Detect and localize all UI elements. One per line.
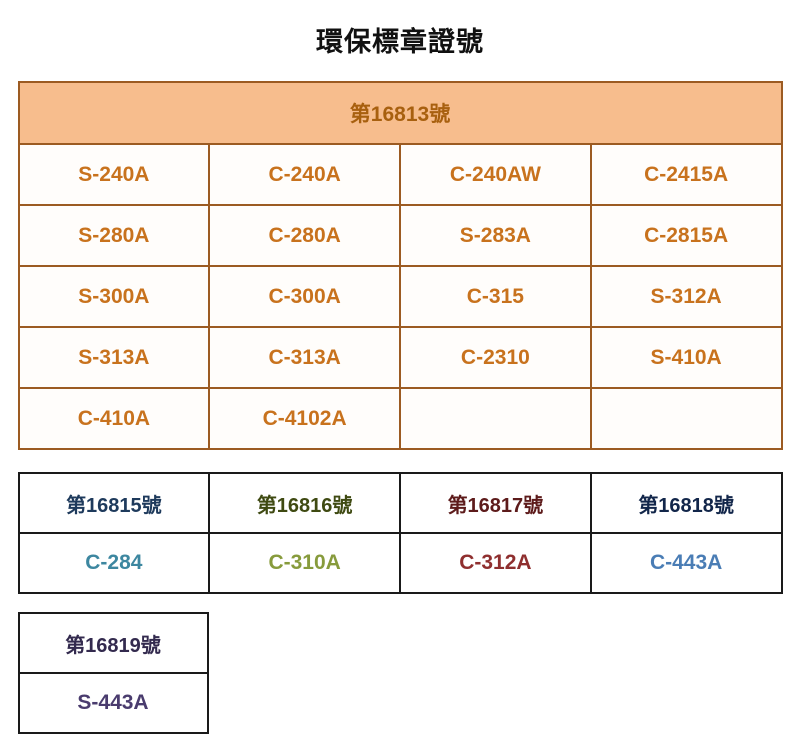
product-code-cell: S-443A: [19, 673, 208, 733]
certificate-table-16819: 第16819號 S-443A: [18, 612, 209, 734]
table-header-row: 第16819號: [19, 613, 208, 673]
certificate-number-header-16819: 第16819號: [19, 613, 208, 673]
table-header-row: 第16813號: [19, 82, 782, 144]
certificate-number-header-16815: 第16815號: [19, 473, 210, 533]
tables-container: 第16813號 S-240A C-240A C-240AW C-2415A S-…: [18, 81, 783, 734]
product-code-cell: C-443A: [591, 533, 782, 593]
table-row: S-443A: [19, 673, 208, 733]
product-code-cell: S-312A: [591, 266, 782, 327]
table-row: C-410A C-4102A: [19, 388, 782, 449]
product-code-cell: S-283A: [400, 205, 591, 266]
product-code-cell: C-300A: [209, 266, 400, 327]
table-row: S-313A C-313A C-2310 S-410A: [19, 327, 782, 388]
product-code-cell: S-300A: [19, 266, 210, 327]
certificate-number-header-16817: 第16817號: [400, 473, 591, 533]
empty-cell: [591, 388, 782, 449]
product-code-cell: C-2415A: [591, 144, 782, 205]
product-code-cell: C-4102A: [209, 388, 400, 449]
product-code-cell: S-280A: [19, 205, 210, 266]
product-code-cell: C-313A: [209, 327, 400, 388]
product-code-cell: C-284: [19, 533, 210, 593]
certificate-number-header-16816: 第16816號: [209, 473, 400, 533]
product-code-cell: C-315: [400, 266, 591, 327]
table-header-row: 第16815號 第16816號 第16817號 第16818號: [19, 473, 782, 533]
table-row: S-300A C-300A C-315 S-312A: [19, 266, 782, 327]
certificate-table-16813: 第16813號 S-240A C-240A C-240AW C-2415A S-…: [18, 81, 783, 450]
page-title: 環保標章證號: [0, 0, 800, 63]
product-code-cell: C-2815A: [591, 205, 782, 266]
table-row: C-284 C-310A C-312A C-443A: [19, 533, 782, 593]
product-code-cell: C-310A: [209, 533, 400, 593]
certificate-table-multi: 第16815號 第16816號 第16817號 第16818號 C-284 C-…: [18, 472, 783, 594]
product-code-cell: S-410A: [591, 327, 782, 388]
product-code-cell: C-410A: [19, 388, 210, 449]
product-code-cell: C-280A: [209, 205, 400, 266]
product-code-cell: S-313A: [19, 327, 210, 388]
product-code-cell: C-312A: [400, 533, 591, 593]
product-code-cell: C-2310: [400, 327, 591, 388]
certificate-number-header-16818: 第16818號: [591, 473, 782, 533]
empty-cell: [400, 388, 591, 449]
certificate-number-header: 第16813號: [19, 82, 782, 144]
product-code-cell: C-240AW: [400, 144, 591, 205]
product-code-cell: S-240A: [19, 144, 210, 205]
table-row: S-280A C-280A S-283A C-2815A: [19, 205, 782, 266]
product-code-cell: C-240A: [209, 144, 400, 205]
table-row: S-240A C-240A C-240AW C-2415A: [19, 144, 782, 205]
